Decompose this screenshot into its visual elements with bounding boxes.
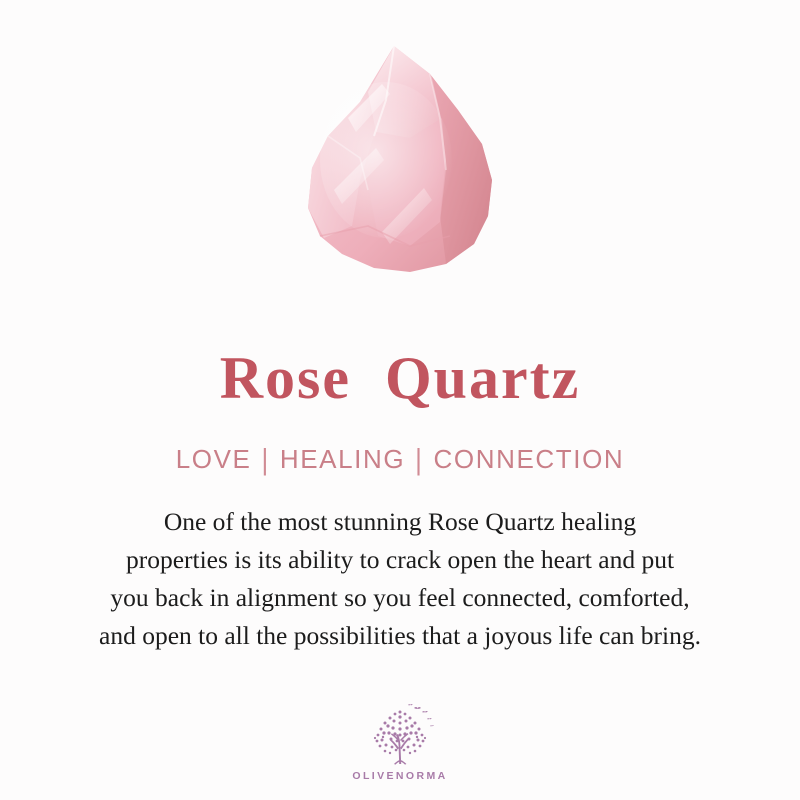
description-line: properties is its ability to crack open … [30, 541, 770, 579]
page-title: Rose Quartz [220, 348, 581, 408]
rose-quartz-info-card: Rose Quartz LOVE | HEALING | CONNECTION … [0, 0, 800, 800]
keyword-separator: | [261, 442, 269, 478]
description-paragraph: One of the most stunning Rose Quartz hea… [30, 503, 770, 655]
rose-quartz-crystal-image [290, 40, 510, 290]
keyword-love: LOVE [176, 444, 252, 475]
keyword-healing: HEALING [280, 444, 405, 475]
tree-of-life-icon [364, 702, 436, 768]
description-line: One of the most stunning Rose Quartz hea… [30, 503, 770, 541]
keyword-tagline: LOVE | HEALING | CONNECTION [176, 444, 625, 475]
hero-image-container [0, 0, 800, 300]
description-line: and open to all the possibilities that a… [30, 617, 770, 655]
keyword-separator: | [415, 442, 423, 478]
description-line: you back in alignment so you feel connec… [30, 579, 770, 617]
keyword-connection: CONNECTION [434, 444, 625, 475]
brand-logo: OLIVENORMA [0, 702, 800, 782]
brand-wordmark: OLIVENORMA [352, 770, 447, 782]
crystal-inner-glow [320, 82, 452, 238]
